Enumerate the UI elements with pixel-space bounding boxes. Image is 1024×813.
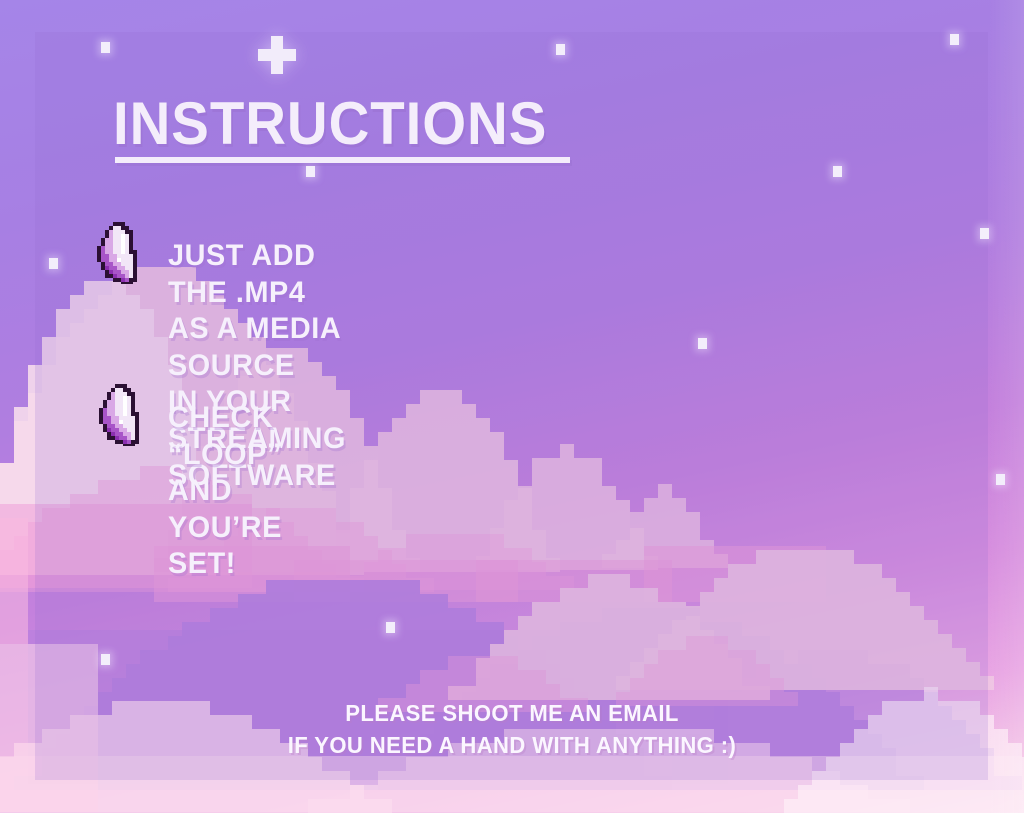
sparkle-square-icon <box>306 166 315 177</box>
sparkle-square-icon <box>556 44 565 55</box>
sparkle-square-icon <box>101 42 110 53</box>
sparkle-plus-icon <box>258 36 296 74</box>
sparkle-square-icon <box>833 166 842 177</box>
sparkle-square-icon <box>996 474 1005 485</box>
sparkle-square-icon <box>950 34 959 45</box>
sparkle-square-icon <box>101 654 110 665</box>
page-title: INSTRUCTIONS <box>113 94 547 154</box>
sparkle-square-icon <box>980 228 989 239</box>
footer-contact-note: PLEASE SHOOT ME AN EMAIL IF YOU NEED A H… <box>20 698 1003 761</box>
sparkle-square-icon <box>386 622 395 633</box>
sparkle-square-icon <box>49 258 58 269</box>
poster-canvas: INSTRUCTIONS JUST ADD THE .MP4 AS A MEDI… <box>0 0 1024 813</box>
instruction-text-2: CHECK “LOOP” AND YOU’RE SET! <box>168 400 282 583</box>
crystal-gem-icon <box>99 384 147 446</box>
sparkle-square-icon <box>698 338 707 349</box>
title-underline <box>115 157 570 163</box>
crystal-gem-icon <box>97 222 145 284</box>
